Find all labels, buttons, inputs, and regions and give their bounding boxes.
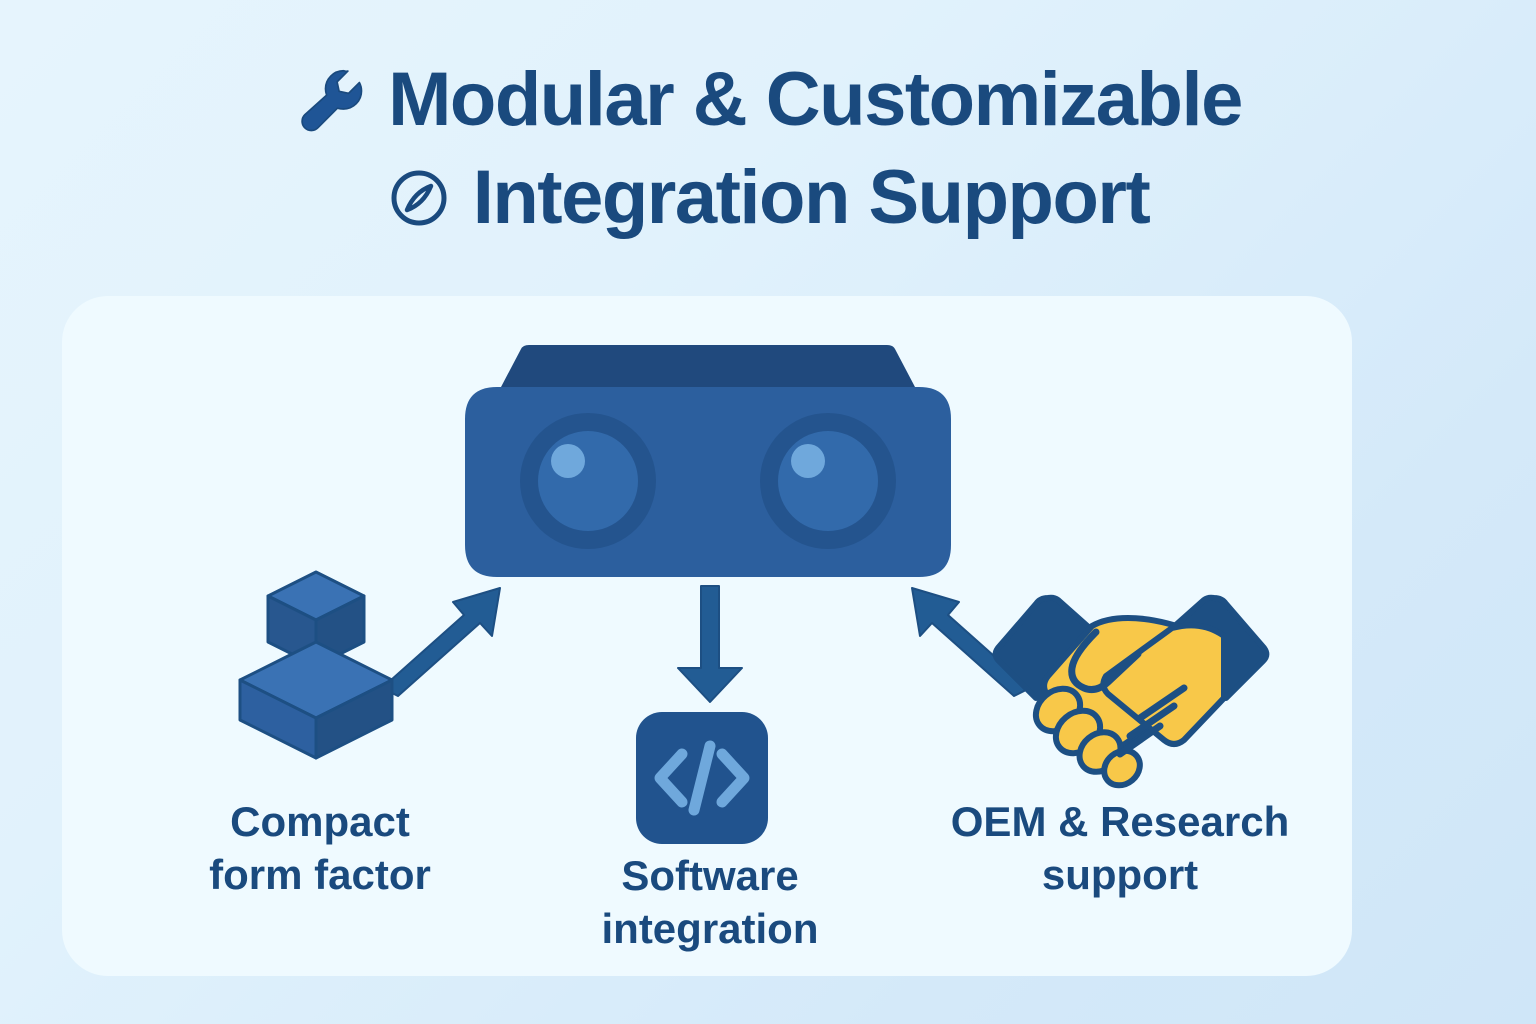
stacked-cubes-icon xyxy=(224,562,416,766)
title-line-2-text: Integration Support xyxy=(473,160,1150,236)
title-line-1-text: Modular & Customizable xyxy=(388,62,1242,138)
stereo-camera-icon xyxy=(463,343,953,583)
feature-label-oem-research-support: OEM & Research support xyxy=(900,796,1340,901)
wrench-icon xyxy=(294,64,366,136)
title-line-1: Modular & Customizable xyxy=(0,62,1536,138)
code-brackets-icon xyxy=(634,710,770,846)
arrow-down-icon xyxy=(660,580,760,708)
feature-label-compact-form-factor: Compact form factor xyxy=(150,796,490,901)
page-title: Modular & Customizable Integration Suppo… xyxy=(0,62,1536,236)
compass-icon xyxy=(387,166,451,230)
infographic-stage: Modular & Customizable Integration Suppo… xyxy=(0,0,1536,1024)
handshake-icon xyxy=(988,576,1274,792)
feature-label-software-integration: Software integration xyxy=(535,850,885,955)
title-line-2: Integration Support xyxy=(0,160,1536,236)
